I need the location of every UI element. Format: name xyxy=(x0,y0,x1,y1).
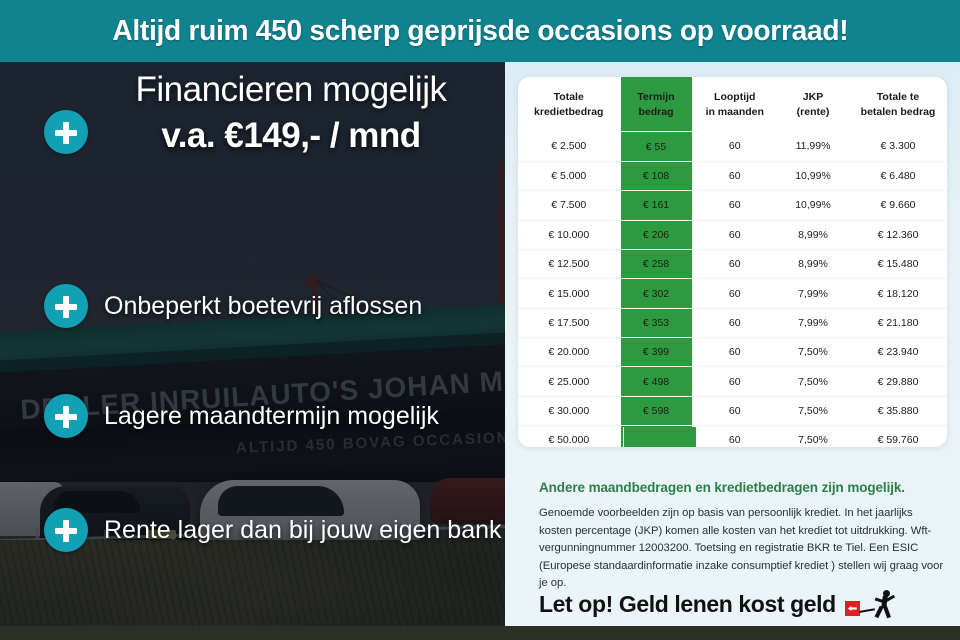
table-row: € 50.000 € 996 60 7,50% € 59.760 xyxy=(518,426,947,447)
cell-monthly: € 55 xyxy=(620,132,692,161)
cell-term: 60 xyxy=(692,191,777,220)
bottom-strip xyxy=(0,626,960,640)
cell-monthly: € 206 xyxy=(620,220,692,249)
afm-warning-logo-icon xyxy=(845,590,899,618)
cell-credit: € 15.000 xyxy=(518,279,620,308)
cell-monthly: € 161 xyxy=(620,191,692,220)
table-row: € 17.500 € 353 60 7,99% € 21.180 xyxy=(518,308,947,337)
disclaimer-title: Andere maandbedragen en kredietbedragen … xyxy=(539,480,944,495)
cell-term: 60 xyxy=(692,426,777,447)
cell-apr: 7,50% xyxy=(777,396,849,425)
cell-apr: 10,99% xyxy=(777,161,849,190)
col-header-2: Looptijd in maanden xyxy=(692,77,777,132)
plus-icon xyxy=(44,508,88,552)
advertisement-banner: Altijd ruim 450 scherp geprijsde occasio… xyxy=(0,0,960,640)
bullet-item-2: Rente lager dan bij jouw eigen bank xyxy=(44,508,502,552)
cell-total: € 15.480 xyxy=(849,249,947,278)
cell-monthly: € 598 xyxy=(620,396,692,425)
cell-total: € 18.120 xyxy=(849,279,947,308)
cell-term: 60 xyxy=(692,249,777,278)
cell-total: € 23.940 xyxy=(849,338,947,367)
cell-term: 60 xyxy=(692,308,777,337)
table-row: € 12.500 € 258 60 8,99% € 15.480 xyxy=(518,249,947,278)
bullet-label: Onbeperkt boetevrij aflossen xyxy=(104,292,422,321)
table-header-row: Totale kredietbedrag Termijn bedrag Loop… xyxy=(518,77,947,132)
bullet-item-1: Lagere maandtermijn mogelijk xyxy=(44,394,439,438)
cell-term: 60 xyxy=(692,161,777,190)
cell-term: 60 xyxy=(692,132,777,161)
table-row: € 10.000 € 206 60 8,99% € 12.360 xyxy=(518,220,947,249)
col-header-3: JKP (rente) xyxy=(777,77,849,132)
col-header-line: JKP xyxy=(803,91,823,103)
cell-monthly: € 302 xyxy=(620,279,692,308)
headline-line-1: Financieren mogelijk xyxy=(76,70,506,110)
col-header-4: Totale te betalen bedrag xyxy=(849,77,947,132)
cell-apr: 7,50% xyxy=(777,426,849,447)
bullet-label: Rente lager dan bij jouw eigen bank xyxy=(104,516,502,545)
col-header-line: Termijn xyxy=(637,91,674,103)
top-banner: Altijd ruim 450 scherp geprijsde occasio… xyxy=(0,0,960,62)
cell-total: € 9.660 xyxy=(849,191,947,220)
cell-credit: € 7.500 xyxy=(518,191,620,220)
cell-credit: € 25.000 xyxy=(518,367,620,396)
cell-term: 60 xyxy=(692,279,777,308)
col-header-line: (rente) xyxy=(797,106,830,118)
cell-total: € 59.760 xyxy=(849,426,947,447)
cell-monthly: € 258 xyxy=(620,249,692,278)
cell-apr: 7,50% xyxy=(777,367,849,396)
finance-info-panel: Totale kredietbedrag Termijn bedrag Loop… xyxy=(505,62,960,640)
headline-line-2: v.a. €149,- / mnd xyxy=(76,116,506,156)
cell-monthly: € 498 xyxy=(620,367,692,396)
col-header-line: betalen bedrag xyxy=(861,106,936,118)
cell-term: 60 xyxy=(692,396,777,425)
plus-icon xyxy=(44,394,88,438)
col-header-line: Looptijd xyxy=(714,91,755,103)
rates-table-head: Totale kredietbedrag Termijn bedrag Loop… xyxy=(518,77,947,132)
col-header-line: kredietbedrag xyxy=(534,106,603,118)
cell-credit: € 20.000 xyxy=(518,338,620,367)
cell-monthly: € 399 xyxy=(620,338,692,367)
cell-apr: 11,99% xyxy=(777,132,849,161)
cell-credit: € 2.500 xyxy=(518,132,620,161)
afm-block-icon xyxy=(845,601,860,616)
table-row: € 20.000 € 399 60 7,50% € 23.940 xyxy=(518,338,947,367)
cell-apr: 8,99% xyxy=(777,249,849,278)
cell-credit: € 12.500 xyxy=(518,249,620,278)
table-row: € 7.500 € 161 60 10,99% € 9.660 xyxy=(518,191,947,220)
credit-warning: Let op! Geld lenen kost geld xyxy=(505,590,960,618)
cell-term: 60 xyxy=(692,220,777,249)
cell-term: 60 xyxy=(692,338,777,367)
cell-apr: 8,99% xyxy=(777,220,849,249)
table-row: € 15.000 € 302 60 7,99% € 18.120 xyxy=(518,279,947,308)
plus-icon xyxy=(44,284,88,328)
col-header-line: in maanden xyxy=(706,106,764,118)
table-row: € 2.500 € 55 60 11,99% € 3.300 xyxy=(518,132,947,161)
col-header-1: Termijn bedrag xyxy=(620,77,692,132)
top-banner-text: Altijd ruim 450 scherp geprijsde occasio… xyxy=(112,15,848,48)
table-row: € 5.000 € 108 60 10,99% € 6.480 xyxy=(518,161,947,190)
cell-monthly: € 108 xyxy=(620,161,692,190)
rates-table-card: Totale kredietbedrag Termijn bedrag Loop… xyxy=(518,77,947,447)
col-header-0: Totale kredietbedrag xyxy=(518,77,620,132)
cell-credit: € 10.000 xyxy=(518,220,620,249)
cell-total: € 3.300 xyxy=(849,132,947,161)
rates-table: Totale kredietbedrag Termijn bedrag Loop… xyxy=(518,77,947,447)
highlight-column-tail xyxy=(623,427,697,447)
credit-warning-text: Let op! Geld lenen kost geld xyxy=(539,591,836,618)
table-row: € 30.000 € 598 60 7,50% € 35.880 xyxy=(518,396,947,425)
cell-credit: € 17.500 xyxy=(518,308,620,337)
col-header-line: Totale xyxy=(554,91,584,103)
cell-total: € 6.480 xyxy=(849,161,947,190)
cell-total: € 29.880 xyxy=(849,367,947,396)
cell-credit: € 50.000 xyxy=(518,426,620,447)
bullet-item-0: Onbeperkt boetevrij aflossen xyxy=(44,284,422,328)
cell-apr: 10,99% xyxy=(777,191,849,220)
rates-table-body: € 2.500 € 55 60 11,99% € 3.300 € 5.000 €… xyxy=(518,132,947,447)
disclaimer-block: Andere maandbedragen en kredietbedragen … xyxy=(539,480,944,593)
cell-apr: 7,99% xyxy=(777,279,849,308)
cell-total: € 35.880 xyxy=(849,396,947,425)
cell-credit: € 5.000 xyxy=(518,161,620,190)
cell-monthly: € 353 xyxy=(620,308,692,337)
afm-walking-person-icon xyxy=(872,590,899,618)
headline-wrap: Financieren mogelijk v.a. €149,- / mnd xyxy=(76,70,506,156)
disclaimer-body: Genoemde voorbeelden zijn op basis van p… xyxy=(539,505,944,593)
cell-apr: 7,99% xyxy=(777,308,849,337)
bullet-label: Lagere maandtermijn mogelijk xyxy=(104,402,439,431)
cell-total: € 21.180 xyxy=(849,308,947,337)
cell-total: € 12.360 xyxy=(849,220,947,249)
cell-apr: 7,50% xyxy=(777,338,849,367)
cell-term: 60 xyxy=(692,367,777,396)
promo-panel: DEALER INRUILAUTO'S JOHAN MEURE ALTIJD 4… xyxy=(0,62,512,640)
col-header-line: Totale te xyxy=(877,91,919,103)
col-header-line: bedrag xyxy=(638,106,673,118)
table-row: € 25.000 € 498 60 7,50% € 29.880 xyxy=(518,367,947,396)
cell-credit: € 30.000 xyxy=(518,396,620,425)
